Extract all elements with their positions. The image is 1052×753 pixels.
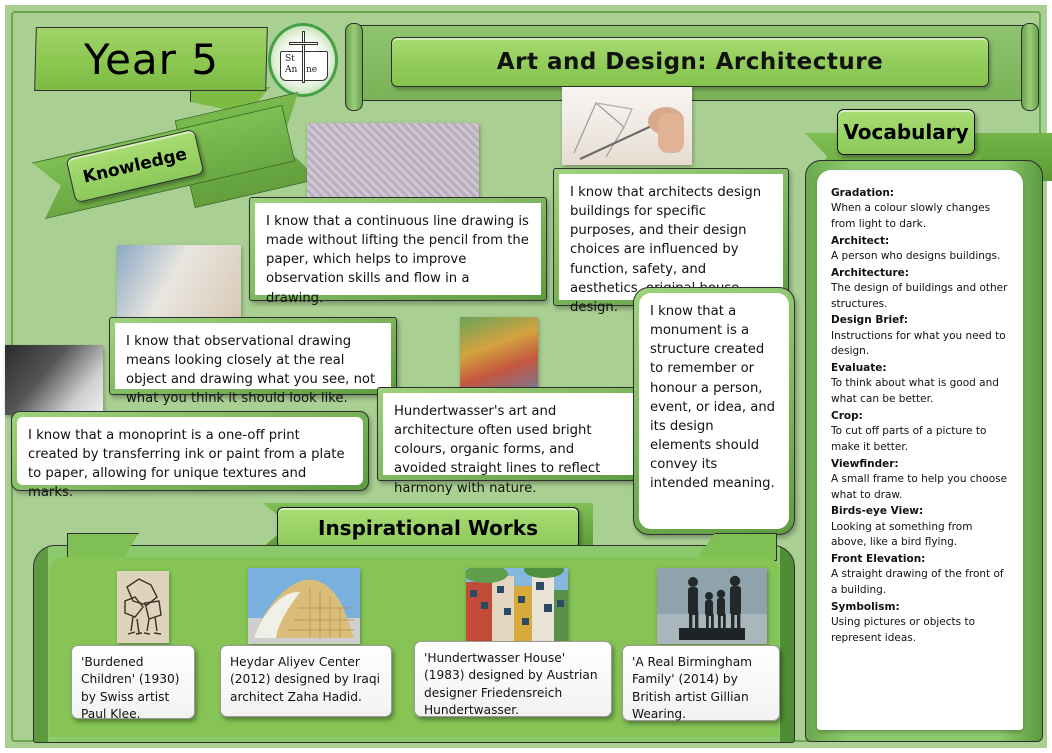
observational-drawing-photo [117,245,241,317]
vocabulary-definition: A small frame to help you choose what to… [831,472,1009,504]
work-caption-burdened-children: 'Burdened Children' (1930) by Swiss arti… [71,645,195,719]
knowledge-text: Hundertwasser's art and architecture oft… [383,393,637,475]
klee-sketch-icon [117,571,169,643]
knowledge-card-continuous-line: I know that a continuous line drawing is… [249,197,547,301]
vocabulary-list: Gradation: When a colour slowly changes … [817,170,1023,730]
vocabulary-definition: Instructions for what you need to design… [831,329,1009,361]
vocabulary-term: Crop: [831,409,1009,424]
vocabulary-definition: To think about what is good and what can… [831,376,1009,408]
birmingham-family-statue-image [657,568,767,644]
vocabulary-definition: To cut off parts of a picture to make it… [831,424,1009,456]
vocabulary-entry: Gradation: When a colour slowly changes … [831,186,1009,233]
heydar-building-icon [248,568,360,644]
vocabulary-entry: Crop: To cut off parts of a picture to m… [831,409,1009,456]
inspirational-works-header: Inspirational Works [277,507,579,549]
work-caption-birmingham-family: 'A Real Birmingham Family' (2014) by Bri… [622,645,780,721]
caption-text: 'A Real Birmingham Family' (2014) by Bri… [632,655,752,721]
knowledge-text: I know that observational drawing means … [115,323,391,389]
knowledge-text: I know that a monoprint is a one-off pri… [17,417,363,485]
year-banner: Year 5 [34,27,268,91]
hundertwasser-house-image [466,568,568,644]
vocabulary-entry: Viewfinder: A small frame to help you ch… [831,457,1009,504]
school-crest-logo: St An ne [268,23,338,97]
vocabulary-label: Vocabulary [843,120,968,144]
vocabulary-entry: Front Elevation: A straight drawing of t… [831,552,1009,599]
knowledge-card-architects-design: I know that architects design buildings … [553,168,789,306]
vocabulary-definition: Using pictures or objects to represent i… [831,615,1009,647]
scroll-roll-right [1021,23,1039,111]
vocabulary-entry: Design Brief: Instructions for what you … [831,313,1009,360]
work-caption-hundertwasser-house: 'Hundertwasser House' (1983) designed by… [414,641,612,717]
knowledge-card-observational-drawing: I know that observational drawing means … [109,317,397,395]
knowledge-card-monoprint: I know that a monoprint is a one-off pri… [11,411,369,491]
vocabulary-term: Symbolism: [831,600,1009,615]
vocabulary-definition: Looking at something from above, like a … [831,520,1009,552]
vocabulary-definition: A straight drawing of the front of a bui… [831,567,1009,599]
cross-bar-icon [289,42,318,45]
page-title-text: Art and Design: Architecture [497,49,883,75]
monoprint-ink-photo [5,345,103,415]
caption-text: 'Hundertwasser House' (1983) designed by… [424,651,598,717]
family-statue-icon [657,568,767,644]
knowledge-card-monument: I know that a monument is a structure cr… [633,287,795,535]
heydar-aliyev-center-image [248,568,360,644]
vocabulary-entry: Architecture: The design of buildings an… [831,266,1009,313]
vocabulary-term: Design Brief: [831,313,1009,328]
page-title: Art and Design: Architecture [391,37,989,87]
vocabulary-definition: The design of buildings and other struct… [831,281,1009,313]
inspirational-works-label: Inspirational Works [318,516,538,540]
vocabulary-term: Birds-eye View: [831,504,1009,519]
crest-text-line1: St [285,54,295,64]
knowledge-text: I know that a continuous line drawing is… [255,203,541,295]
knowledge-card-hundertwasser: Hundertwasser's art and architecture oft… [377,387,643,481]
caption-text: Heydar Aliyev Center (2012) designed by … [230,655,380,704]
cross-icon [302,31,305,83]
vocabulary-term: Front Elevation: [831,552,1009,567]
klee-line-drawing-image [117,571,169,643]
vocabulary-entry: Symbolism: Using pictures or objects to … [831,600,1009,647]
knowledge-organiser-poster: Year 5 St An ne Art and Design: Architec… [0,0,1052,753]
caption-text: 'Burdened Children' (1930) by Swiss arti… [81,655,179,721]
vocabulary-definition: When a colour slowly changes from light … [831,201,1009,233]
vocabulary-term: Evaluate: [831,361,1009,376]
vocabulary-section-header: Vocabulary [837,109,975,155]
knowledge-text: I know that architects design buildings … [559,174,783,300]
vocabulary-entry: Evaluate: To think about what is good an… [831,361,1009,408]
work-caption-heydar-aliyev: Heydar Aliyev Center (2012) designed by … [220,645,392,717]
knowledge-text: I know that a monument is a structure cr… [639,293,789,529]
vocabulary-entry: Architect: A person who designs building… [831,234,1009,265]
hundertwasser-house-icon [466,568,568,644]
crest-text-line3: ne [306,65,317,75]
scroll-roll-left [345,23,363,111]
vocabulary-term: Gradation: [831,186,1009,201]
crest-text-line2: An [285,65,297,75]
hand-sketching-photo [562,87,692,165]
year-label: Year 5 [84,35,219,84]
vocabulary-term: Architect: [831,234,1009,249]
vocabulary-term: Architecture: [831,266,1009,281]
vocabulary-definition: A person who designs buildings. [831,249,1009,265]
vocabulary-entry: Birds-eye View: Looking at something fro… [831,504,1009,551]
vocabulary-term: Viewfinder: [831,457,1009,472]
sketch-lines-icon [562,87,692,165]
